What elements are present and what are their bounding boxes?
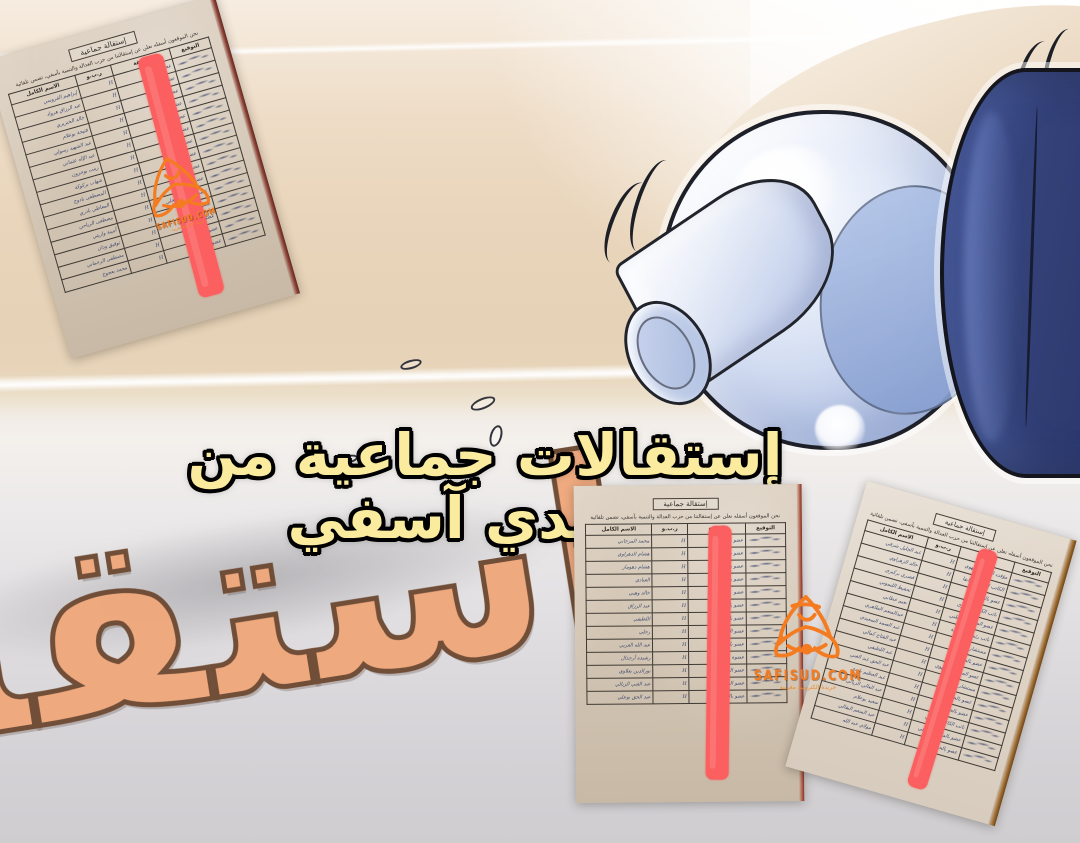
cell-fullname: رحلي xyxy=(587,625,653,639)
signature-mark xyxy=(749,611,784,622)
cell-id: H xyxy=(653,664,689,677)
cell-id: H xyxy=(652,573,688,586)
cell-signature xyxy=(746,624,786,637)
document-title: إستقالة جماعية xyxy=(652,497,718,510)
signature-mark xyxy=(748,533,783,544)
column-header-id: ر.ب.و xyxy=(652,523,688,534)
cell-signature xyxy=(746,572,786,585)
cell-fullname: محمد المرجاني xyxy=(586,534,652,548)
cell-id: H xyxy=(652,547,688,560)
cell-id: H xyxy=(653,690,689,703)
cell-signature xyxy=(746,598,786,611)
cell-signature xyxy=(746,546,786,559)
signature-mark xyxy=(748,585,783,596)
cell-id: H xyxy=(652,586,688,599)
cell-fullname: عبد الحق بوعلي xyxy=(587,690,653,704)
pen-cap-highlight xyxy=(964,112,1020,442)
news-graphic-stage: استقالة إستقالات جماعية من بيجيدي آسفي إ… xyxy=(0,0,1080,843)
signatories-table: التوقيع الصفة ر.ب.و الاسم الكامل عضو بال… xyxy=(585,522,787,705)
document-content: إستقالة جماعية نحن الموقعون أسفله نعلن ع… xyxy=(585,497,788,787)
table-row: عضو بالحزبHعبد الحق بوعلي xyxy=(587,689,787,704)
cell-id: H xyxy=(653,638,689,651)
ink-droplet xyxy=(469,394,497,414)
signature-mark xyxy=(749,637,784,648)
cell-fullname: هشام الدهراوي xyxy=(586,547,652,561)
cell-fullname: نورالدين بعلاوي xyxy=(587,664,653,678)
cell-id: H xyxy=(652,560,688,573)
signature-mark xyxy=(749,650,784,661)
cell-signature xyxy=(747,689,787,702)
signature-mark xyxy=(749,598,784,609)
cell-id: H xyxy=(653,612,689,625)
cell-fullname: عبد الله العربي xyxy=(587,638,653,652)
cell-fullname: خالد وهبي xyxy=(586,586,652,600)
cell-fullname: رشيدة أرجدال xyxy=(587,651,653,665)
cell-signature xyxy=(747,676,787,689)
signatories-body: عضو بالحزبHمحمد المرجانيعضو بالحزبHهشام … xyxy=(586,533,787,704)
signature-mark xyxy=(749,689,784,700)
resignation-document-photo-2: إستقالة جماعية نحن الموقعون أسفله نعلن ع… xyxy=(574,484,805,803)
cell-id: H xyxy=(653,677,689,690)
pen-cap-seam xyxy=(1024,106,1038,428)
cell-fullname: اللطيفي xyxy=(587,612,653,626)
cell-signature xyxy=(747,663,787,676)
column-header-fullname: الاسم الكامل xyxy=(586,523,652,535)
cell-id: H xyxy=(652,534,688,547)
cell-fullname: العبادي xyxy=(586,573,652,587)
column-header-signature: التوقيع xyxy=(746,522,786,533)
cell-fullname: عبد الرزاق xyxy=(587,599,653,613)
signature-mark xyxy=(749,663,784,674)
signature-mark xyxy=(749,624,784,635)
cell-fullname: عبد الغني الزيالي xyxy=(587,677,653,691)
redaction-bar xyxy=(706,526,732,780)
cell-id: H xyxy=(653,625,689,638)
signature-mark xyxy=(749,676,784,687)
cell-signature xyxy=(747,650,787,663)
cell-signature xyxy=(747,637,787,650)
cell-signature xyxy=(746,533,786,546)
signature-mark xyxy=(748,559,783,570)
cell-id: H xyxy=(652,599,688,612)
signature-mark xyxy=(748,546,783,557)
cell-signature xyxy=(746,585,786,598)
cell-signature xyxy=(746,611,786,624)
cell-fullname: هشام دهومار xyxy=(586,560,652,574)
signature-mark xyxy=(748,572,783,583)
cell-signature xyxy=(746,559,786,572)
cell-id: H xyxy=(653,651,689,664)
document-subtitle: نحن الموقعون أسفله نعلن عن إستقالتنا من … xyxy=(583,513,788,521)
